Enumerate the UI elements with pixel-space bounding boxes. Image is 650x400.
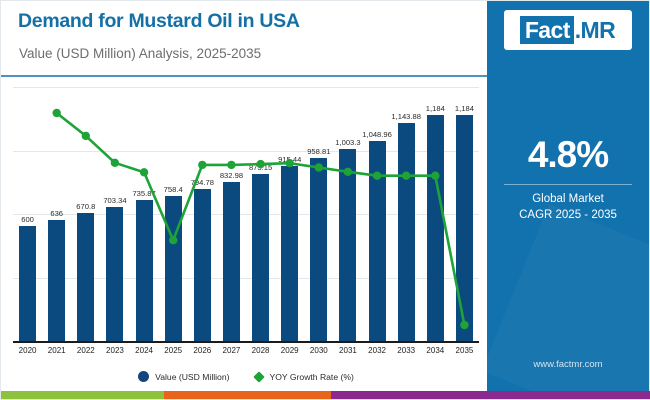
x-tick-2021: 2021: [48, 346, 66, 355]
growth-point-2026: [198, 161, 206, 169]
strip-segment-purple: [331, 391, 650, 399]
plot-area: 600636670.8703.34735.87758.4794.78832.98…: [13, 87, 479, 341]
x-tick-2028: 2028: [252, 346, 270, 355]
chart-subtitle: Value (USD Million) Analysis, 2025-2035: [19, 46, 261, 61]
factmr-logo[interactable]: Fact .MR: [504, 10, 632, 50]
strip-segment-green: [1, 391, 164, 399]
chart-title: Demand for Mustard Oil in USA: [18, 10, 300, 33]
x-tick-2030: 2030: [310, 346, 328, 355]
legend-item[interactable]: Value (USD Million): [138, 371, 229, 382]
diamond-green-icon: [254, 371, 265, 382]
growth-rate-line: [57, 113, 465, 325]
x-tick-2024: 2024: [135, 346, 153, 355]
growth-point-2025: [169, 236, 177, 244]
x-tick-2025: 2025: [164, 346, 182, 355]
growth-point-2030: [315, 163, 323, 171]
x-tick-2027: 2027: [223, 346, 241, 355]
growth-point-2023: [111, 159, 119, 167]
cagr-caption-line1: Global Market: [487, 191, 649, 207]
x-axis-line: [13, 341, 479, 343]
legend-label: YOY Growth Rate (%): [269, 372, 353, 382]
growth-point-2021: [53, 109, 61, 117]
growth-point-2031: [344, 168, 352, 176]
x-tick-2029: 2029: [281, 346, 299, 355]
footer-color-strip: [1, 391, 650, 399]
strip-segment-orange: [164, 391, 331, 399]
cagr-divider: [504, 184, 632, 185]
brand-url[interactable]: www.factmr.com: [487, 359, 649, 370]
circle-blue-icon: [138, 371, 149, 382]
x-tick-2023: 2023: [106, 346, 124, 355]
logo-fact-text: Fact: [520, 16, 574, 44]
logo-mr-text: .MR: [574, 16, 615, 44]
x-tick-2034: 2034: [426, 346, 444, 355]
growth-point-2029: [286, 159, 294, 167]
growth-point-2033: [402, 172, 410, 180]
growth-point-2027: [227, 161, 235, 169]
chart-panel: Demand for Mustard Oil in USA Value (USD…: [1, 1, 491, 393]
x-tick-2032: 2032: [368, 346, 386, 355]
x-tick-2020: 2020: [19, 346, 37, 355]
x-tick-2031: 2031: [339, 346, 357, 355]
cagr-caption-line2: CAGR 2025 - 2035: [487, 207, 649, 223]
x-axis-tick-labels: 2020202120222023202420252026202720282029…: [13, 346, 479, 362]
legend-label: Value (USD Million): [155, 372, 229, 382]
cagr-value: 4.8%: [487, 134, 649, 176]
header-divider: [1, 75, 491, 77]
x-tick-2026: 2026: [193, 346, 211, 355]
chart-infographic: Demand for Mustard Oil in USA Value (USD…: [0, 0, 650, 400]
growth-point-2032: [373, 172, 381, 180]
logo-wordmark: Fact .MR: [520, 16, 615, 44]
growth-point-2035: [460, 321, 468, 329]
growth-point-2022: [82, 132, 90, 140]
x-tick-2022: 2022: [77, 346, 95, 355]
x-tick-2033: 2033: [397, 346, 415, 355]
growth-point-2024: [140, 168, 148, 176]
line-series: [13, 87, 479, 341]
legend-item[interactable]: YOY Growth Rate (%): [255, 372, 353, 382]
growth-point-2028: [256, 160, 264, 168]
chart-legend: Value (USD Million)YOY Growth Rate (%): [1, 371, 491, 382]
cagr-caption: Global Market CAGR 2025 - 2035: [487, 191, 649, 223]
brand-panel: Fact .MR 4.8% Global Market CAGR 2025 - …: [487, 1, 649, 393]
growth-point-2034: [431, 172, 439, 180]
x-tick-2035: 2035: [456, 346, 474, 355]
